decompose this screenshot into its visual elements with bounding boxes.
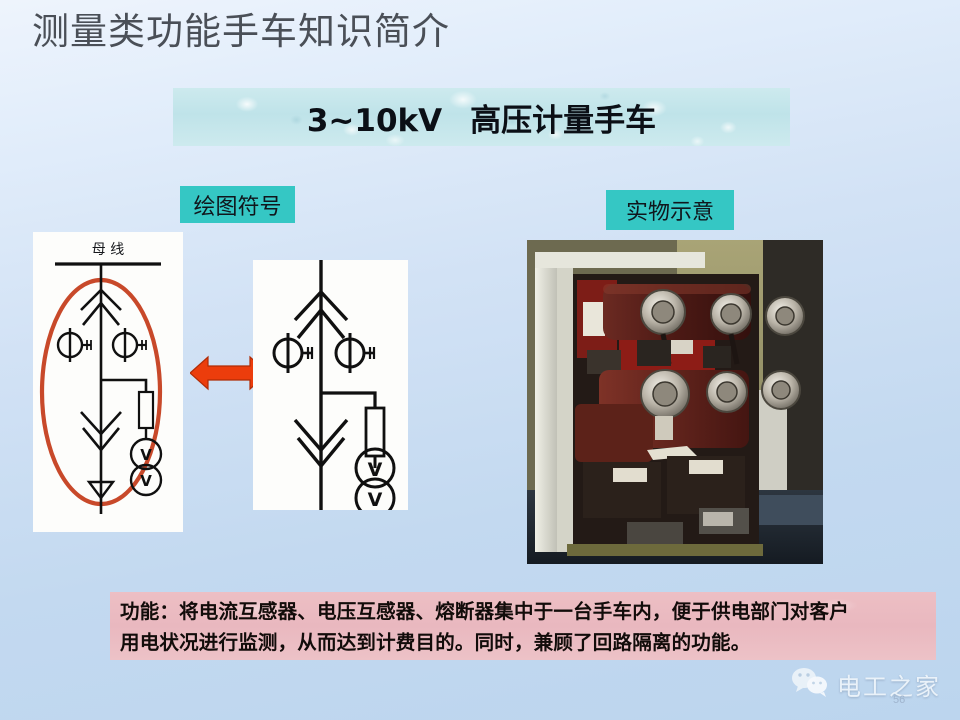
wechat-icon: [790, 666, 830, 703]
watermark: 电工之家: [790, 662, 960, 706]
svg-text:V: V: [368, 489, 383, 510]
busbar-label: 母 线: [92, 242, 124, 258]
equipment-photo: [527, 240, 823, 564]
schematic-panel-zoom: V V: [253, 260, 408, 510]
banner-text: 3~10kV高压计量手车: [307, 95, 656, 140]
banner-rating: 3~10kV: [307, 103, 442, 139]
page-title: 测量类功能手车知识简介: [32, 10, 450, 54]
banner-name: 高压计量手车: [470, 103, 656, 139]
section-label-drawing-symbol: 绘图符号: [180, 186, 295, 223]
svg-text:V: V: [140, 446, 152, 464]
page-number: 56: [893, 694, 905, 706]
section-label-physical-photo: 实物示意: [606, 190, 734, 230]
function-description-box: 功能：将电流互感器、电压互感器、熔断器集中于一台手车内，便于供电部门对客户 用电…: [110, 592, 936, 660]
svg-text:V: V: [140, 472, 152, 490]
caption-line-1: 功能：将电流互感器、电压互感器、熔断器集中于一台手车内，便于供电部门对客户: [120, 596, 930, 627]
watermark-text: 电工之家: [837, 667, 941, 702]
schematic-panel-full: 母 线: [33, 232, 183, 532]
subtitle-banner: 3~10kV高压计量手车: [173, 88, 790, 146]
caption-line-2: 用电状况进行监测，从而达到计费目的。同时，兼顾了回路隔离的功能。: [120, 627, 930, 658]
slide-canvas: 测量类功能手车知识简介 3~10kV高压计量手车 绘图符号 实物示意 母 线: [0, 0, 960, 720]
